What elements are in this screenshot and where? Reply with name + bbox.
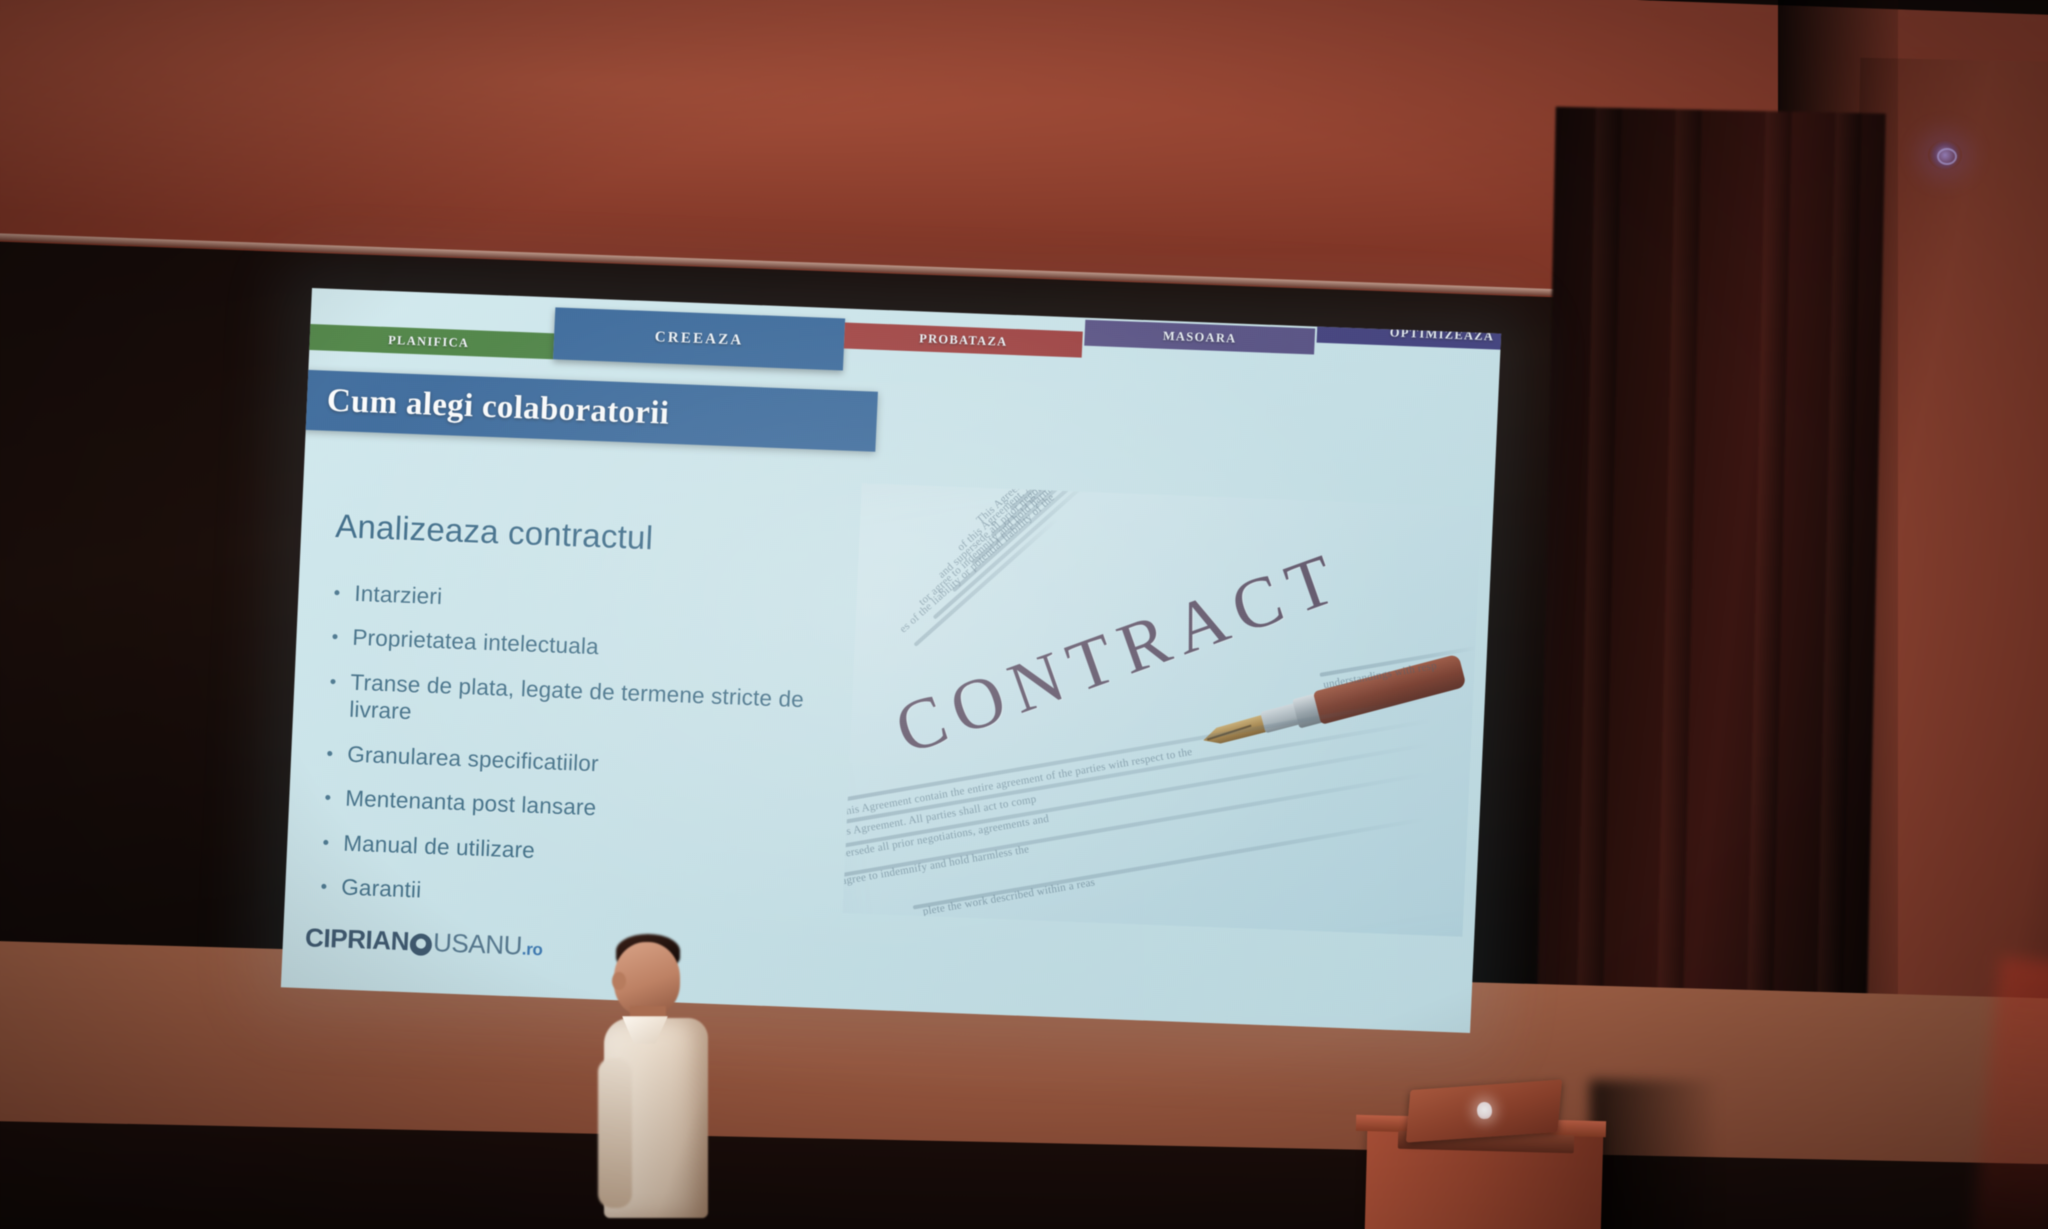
apple-logo-icon <box>1476 1101 1492 1119</box>
presenter-figure <box>592 930 720 1229</box>
nav-tab-creeaza[interactable]: CREEAZA <box>553 307 845 370</box>
list-item: Manual de utilizare <box>317 828 838 875</box>
brand-logo: CIPRIAN USANU .ro <box>304 922 543 962</box>
list-item: Proprietatea intelectuala <box>326 623 847 670</box>
logo-dot-mark-icon <box>410 933 433 956</box>
nav-tab-planifica[interactable]: PLANIFICA <box>303 324 554 360</box>
slide-title-banner: Cum alegi colaboratorii <box>300 370 878 452</box>
logo-text-primary: CIPRIAN <box>304 922 409 957</box>
presentation-slide: PLANIFICA CREEAZA PROBATAZA MASOARA OPTI… <box>281 288 1501 1033</box>
nav-tab-label: MASOARA <box>1163 328 1237 346</box>
nav-tab-label: PROBATAZA <box>919 331 1008 349</box>
nav-tab-probateaza[interactable]: PROBATAZA <box>844 322 1083 357</box>
contract-document-photo: This Agreement contain the entire agreem… <box>843 483 1482 936</box>
logo-text-tld: .ro <box>521 939 542 960</box>
presenter-arm <box>598 1058 632 1208</box>
podium-shadow <box>1590 1080 1720 1229</box>
slide-subheading: Analizeaza contractul <box>335 507 654 557</box>
list-item: Transe de plata, legate de termene stric… <box>323 668 845 743</box>
list-item: Intarzieri <box>328 579 849 626</box>
wall-light-fixture-icon <box>1928 140 1962 170</box>
bullet-list: Intarzieri Proprietatea intelectuala Tra… <box>314 579 849 937</box>
projection-screen: PLANIFICA CREEAZA PROBATAZA MASOARA OPTI… <box>281 288 1501 1033</box>
list-item: Mentenanta post lansare <box>319 784 840 831</box>
nav-tab-label: CREEAZA <box>654 329 743 349</box>
page-title: Cum alegi colaboratorii <box>300 381 670 432</box>
conference-room-scene: PLANIFICA CREEAZA PROBATAZA MASOARA OPTI… <box>0 0 2048 1229</box>
nav-tab-label: PLANIFICA <box>388 332 470 350</box>
nav-tab-masoara[interactable]: MASOARA <box>1084 320 1315 355</box>
presenter-ear <box>612 972 626 990</box>
list-item: Garantii <box>315 873 836 920</box>
logo-text-secondary: USANU <box>432 927 522 961</box>
list-item: Granularea specificatiilor <box>321 739 842 786</box>
